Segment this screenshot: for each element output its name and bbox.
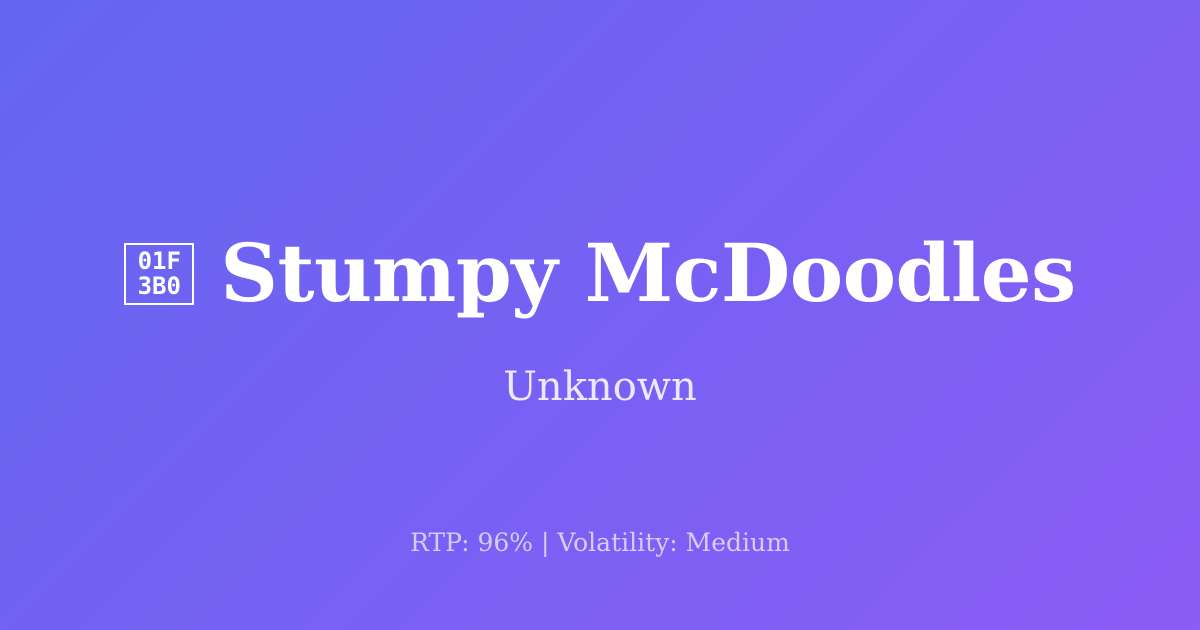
slot-machine-tofu-icon: 01F 3B0 xyxy=(124,243,194,305)
game-meta-line: RTP: 96% | Volatility: Medium xyxy=(0,528,1200,558)
title-row: 01F 3B0 Stumpy McDoodles xyxy=(0,228,1200,318)
game-title: Stumpy McDoodles xyxy=(220,230,1075,316)
tofu-codepoint-top: 01F xyxy=(138,249,181,274)
game-preview-card: 01F 3B0 Stumpy McDoodles Unknown RTP: 96… xyxy=(0,0,1200,630)
game-provider: Unknown xyxy=(0,363,1200,411)
tofu-codepoint-bottom: 3B0 xyxy=(138,274,181,299)
